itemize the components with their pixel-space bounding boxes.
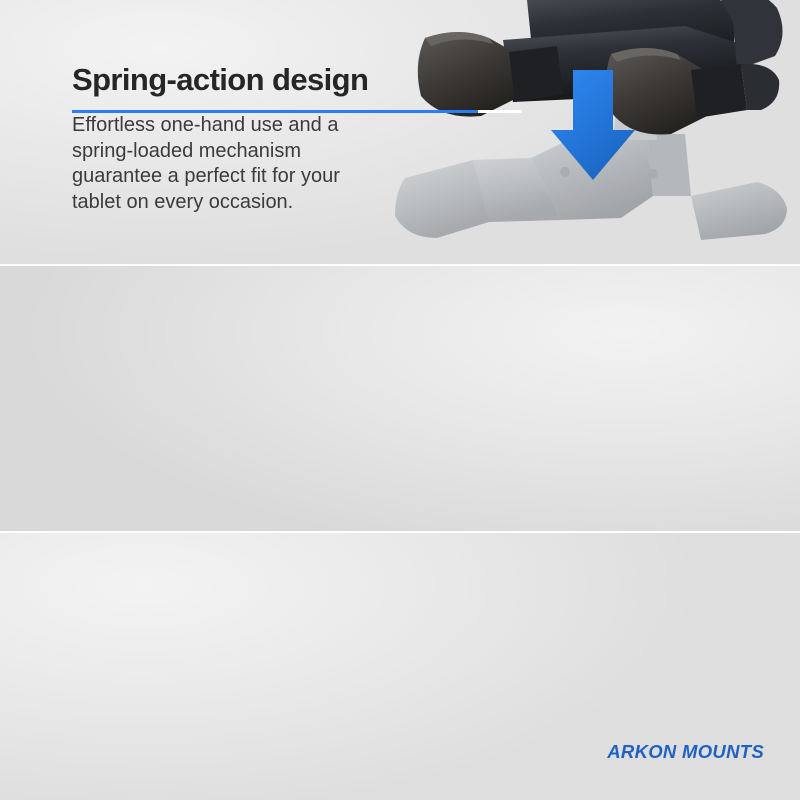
panel-background [0, 266, 800, 532]
accent-rule-blue [72, 110, 478, 113]
feature-panel-grip-grooves: Grip-enhance grooves Designed to accommo… [0, 266, 800, 532]
panel-heading: Spring-action design [72, 62, 382, 98]
panel-divider-bottom [0, 531, 800, 533]
feature-panel-padded-stability: ARKON Padded for stability Padded grip s… [0, 533, 800, 800]
accent-rule [72, 110, 522, 113]
product-feature-infographic: Spring-action design Effortless one-hand… [0, 0, 800, 800]
accent-rule-white [478, 110, 522, 113]
panel-body: Effortless one-hand use and a spring-loa… [72, 113, 382, 215]
panel-divider-top [0, 264, 800, 266]
text-block-spring-action: Spring-action design Effortless one-hand… [72, 62, 382, 215]
feature-panel-spring-action: Spring-action design Effortless one-hand… [0, 0, 800, 265]
arkon-mounts-logo: ARKON MOUNTS [607, 741, 764, 763]
